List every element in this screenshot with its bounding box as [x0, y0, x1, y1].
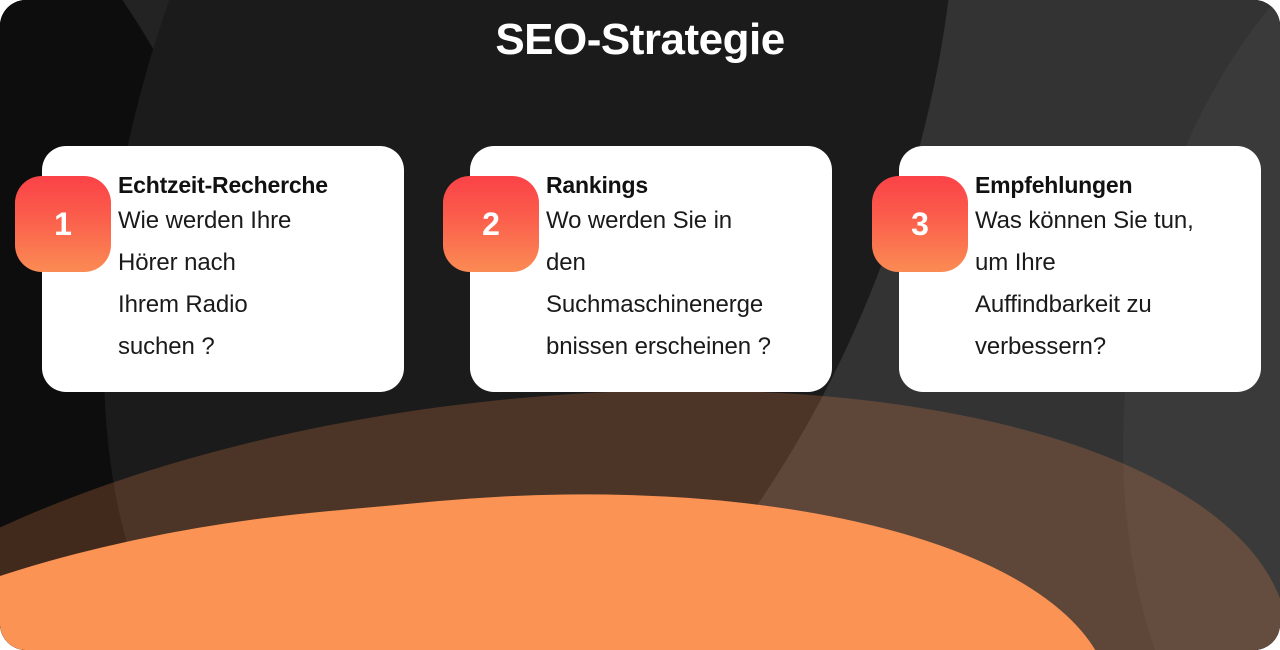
- card-heading: Empfehlungen: [975, 170, 1265, 200]
- orange-wave-foreground: [0, 442, 1146, 650]
- card-content: Empfehlungen Was können Sie tun, um Ihre…: [975, 170, 1265, 368]
- card-heading: Echtzeit-Recherche: [118, 170, 408, 200]
- card-text: Wo werden Sie in den Suchmaschinenerge b…: [546, 200, 836, 368]
- card-number-badge: 3: [872, 176, 968, 272]
- cards-row: 1 Echtzeit-Recherche Wie werden Ihre Hör…: [0, 146, 1280, 396]
- card-content: Rankings Wo werden Sie in den Suchmaschi…: [546, 170, 836, 368]
- card-item[interactable]: 3 Empfehlungen Was können Sie tun, um Ih…: [899, 146, 1261, 392]
- slide-canvas: SEO-Strategie 1 Echtzeit-Recherche Wie w…: [0, 0, 1280, 650]
- card-heading: Rankings: [546, 170, 836, 200]
- card-number-badge: 1: [15, 176, 111, 272]
- card-text: Was können Sie tun, um Ihre Auffindbarke…: [975, 200, 1265, 368]
- page-title: SEO-Strategie: [0, 12, 1280, 68]
- card-number-badge: 2: [443, 176, 539, 272]
- card-content: Echtzeit-Recherche Wie werden Ihre Hörer…: [118, 170, 408, 368]
- card-item[interactable]: 2 Rankings Wo werden Sie in den Suchmasc…: [470, 146, 832, 392]
- card-item[interactable]: 1 Echtzeit-Recherche Wie werden Ihre Hör…: [42, 146, 404, 392]
- card-text: Wie werden Ihre Hörer nach Ihrem Radio s…: [118, 200, 408, 368]
